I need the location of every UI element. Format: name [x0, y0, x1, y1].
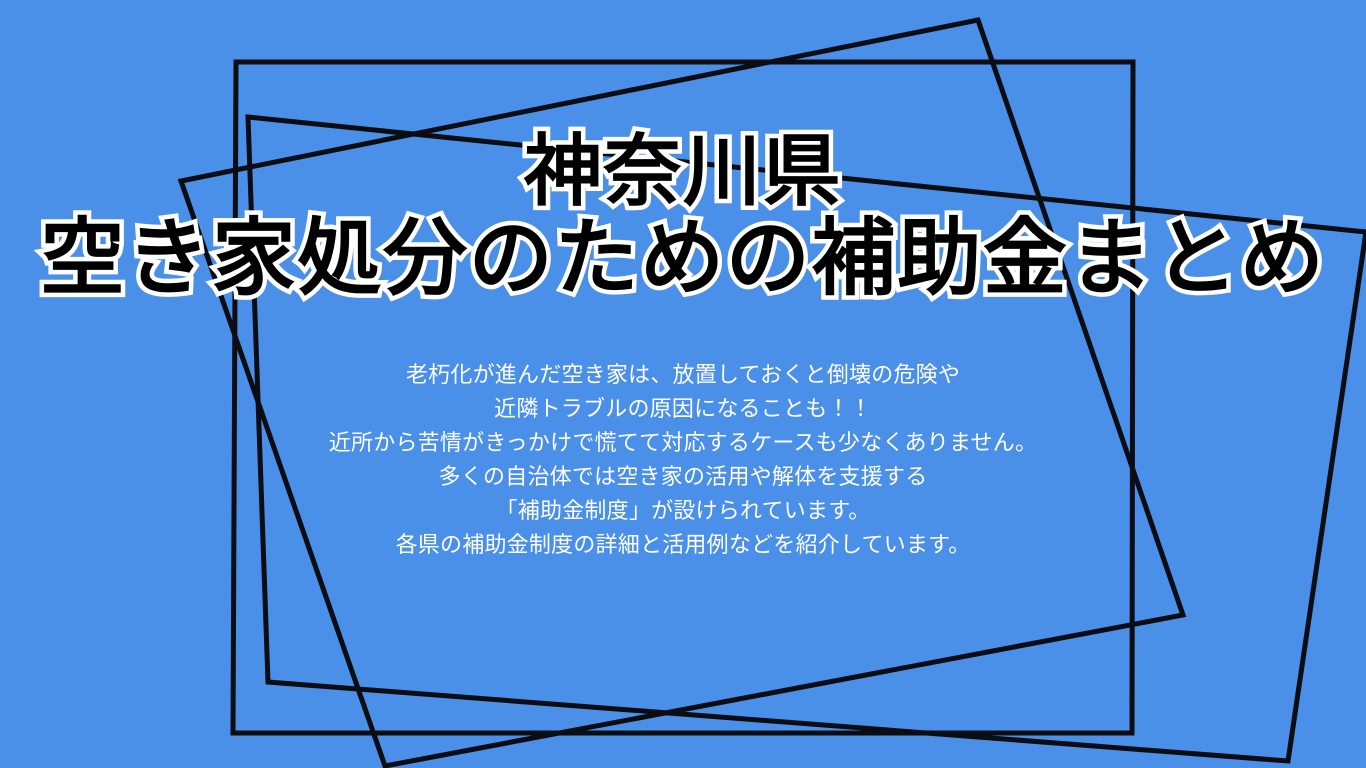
description-line: 老朽化が進んだ空き家は、放置しておくと倒壊の危険や: [0, 358, 1366, 392]
page-title: 神奈川県 空き家処分のための補助金まとめ: [0, 132, 1366, 300]
title-line-prefecture: 神奈川県: [0, 132, 1366, 210]
description-line: 近隣トラブルの原因になることも！！: [0, 392, 1366, 426]
description-line: 近所から苦情がきっかけで慌てて対応するケースも少なくありません。: [0, 426, 1366, 460]
description-line: 多くの自治体では空き家の活用や解体を支援する: [0, 460, 1366, 494]
title-line-subject: 空き家処分のための補助金まとめ: [0, 216, 1366, 300]
poster-canvas: 神奈川県 空き家処分のための補助金まとめ 老朽化が進んだ空き家は、放置しておくと…: [0, 0, 1366, 768]
poster-content: 神奈川県 空き家処分のための補助金まとめ 老朽化が進んだ空き家は、放置しておくと…: [0, 0, 1366, 768]
description-block: 老朽化が進んだ空き家は、放置しておくと倒壊の危険や 近隣トラブルの原因になること…: [0, 358, 1366, 562]
description-line: 「補助金制度」が設けられています。: [0, 494, 1366, 528]
description-line: 各県の補助金制度の詳細と活用例などを紹介しています。: [0, 528, 1366, 562]
